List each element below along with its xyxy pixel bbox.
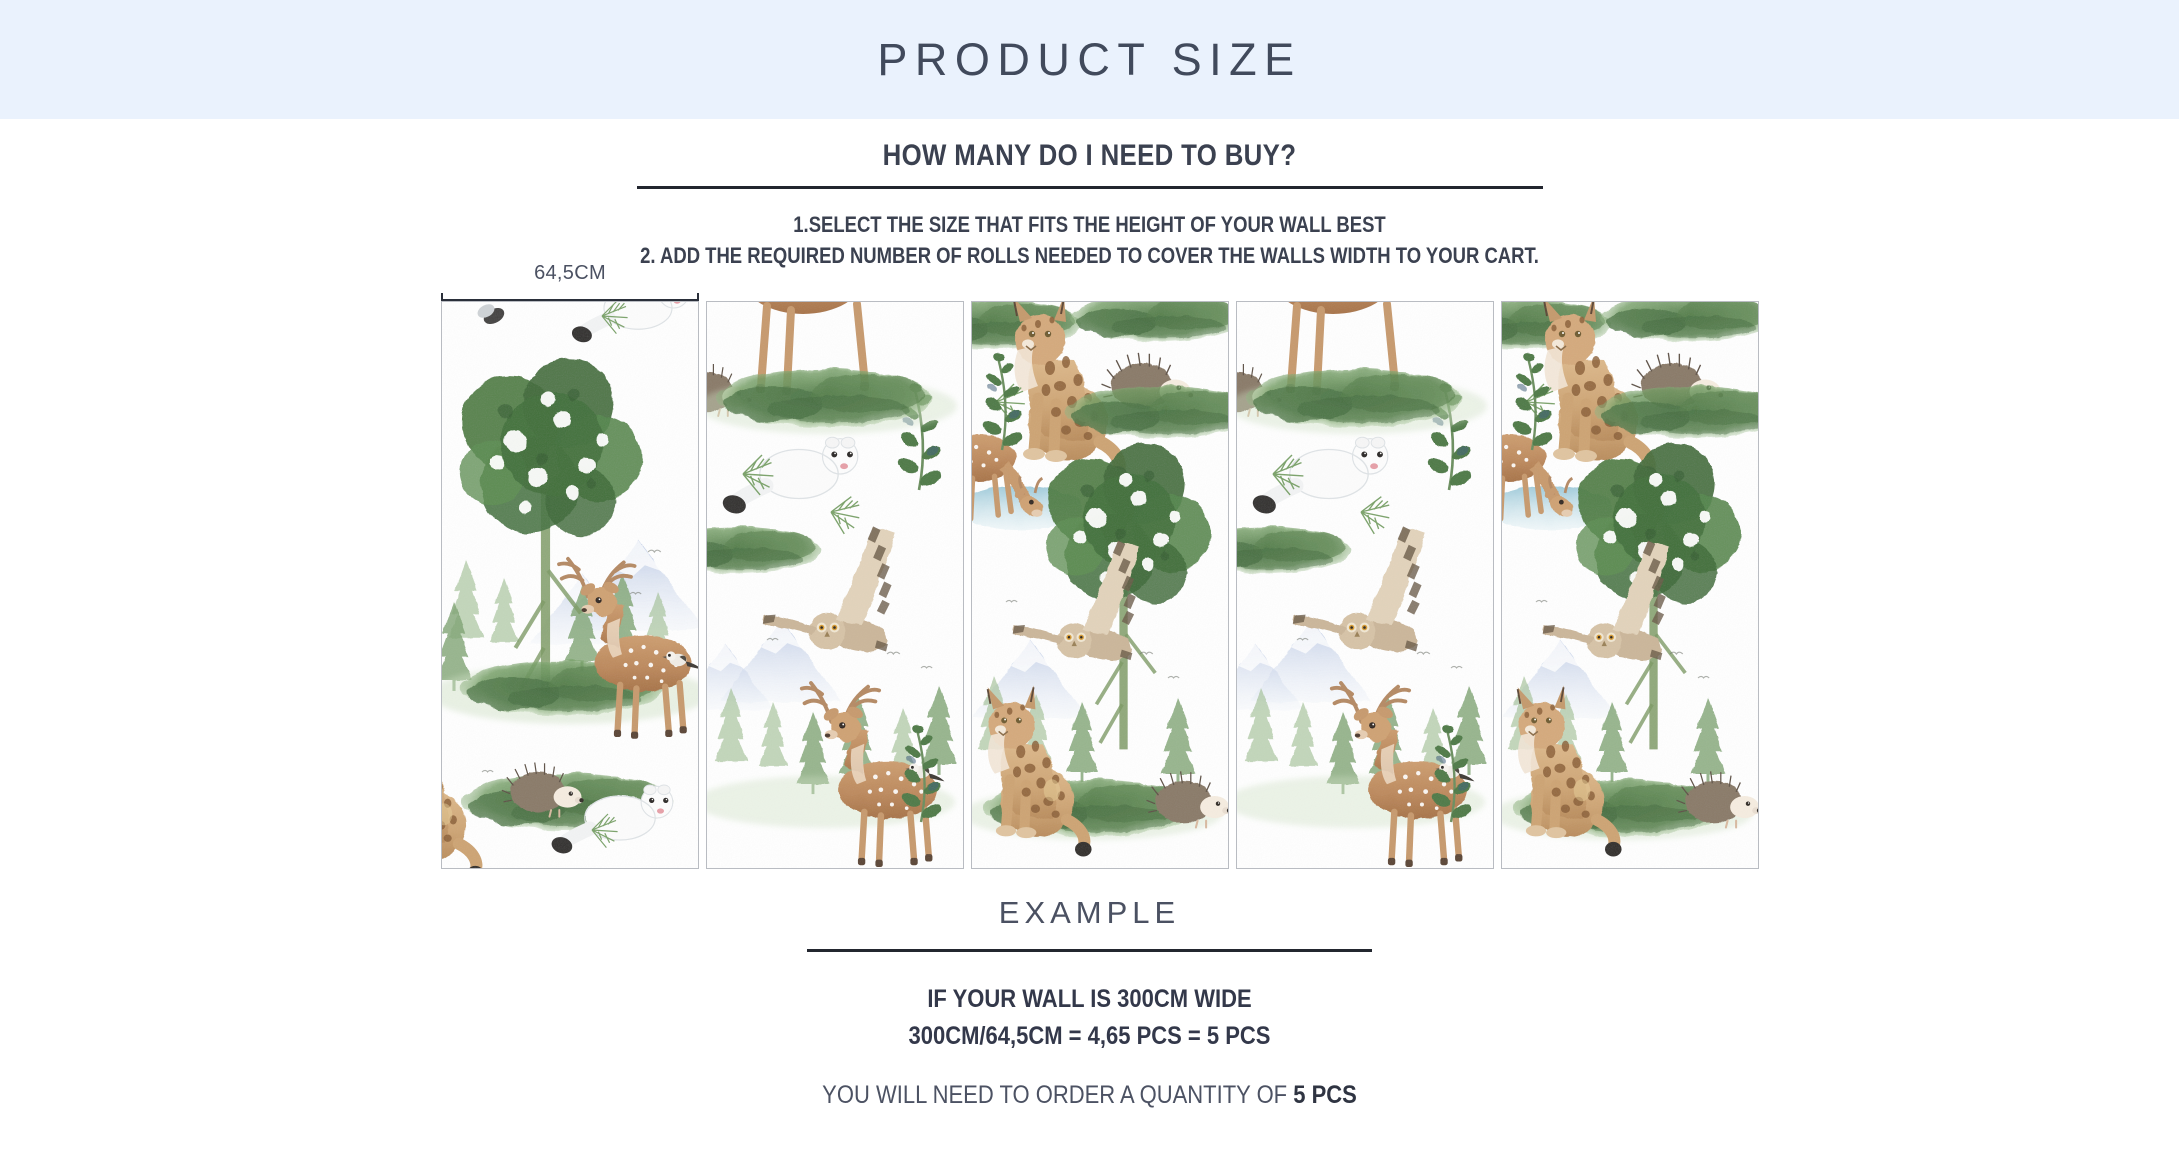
- example-conclusion-value: 5 PCS: [1293, 1081, 1357, 1109]
- wallpaper-artwork-5: [1502, 302, 1758, 868]
- dimension-label: 64,5CM: [441, 262, 699, 285]
- instructions-section: HOW MANY DO I NEED TO BUY? 1.SELECT THE …: [0, 119, 2179, 271]
- example-heading: EXAMPLE: [0, 895, 2179, 931]
- wallpaper-panel-1[interactable]: [441, 301, 699, 869]
- example-conclusion: YOU WILL NEED TO ORDER A QUANTITY OF 5 P…: [131, 1081, 2049, 1110]
- wallpaper-artwork-1: [442, 302, 698, 868]
- wallpaper-artwork-3: [972, 302, 1228, 868]
- instruction-step-1: 1.SELECT THE SIZE THAT FITS THE HEIGHT O…: [174, 209, 2004, 240]
- wallpaper-artwork-4: [1237, 302, 1493, 868]
- wallpaper-artwork-2: [707, 302, 963, 868]
- example-divider: [807, 949, 1372, 952]
- instructions-divider: [637, 186, 1543, 189]
- example-conclusion-prefix: YOU WILL NEED TO ORDER A QUANTITY OF: [822, 1081, 1293, 1109]
- instruction-list: 1.SELECT THE SIZE THAT FITS THE HEIGHT O…: [0, 209, 2179, 271]
- example-line-1: IF YOUR WALL IS 300CM WIDE: [131, 981, 2049, 1018]
- page-title: PRODUCT SIZE: [877, 34, 1301, 86]
- header-band: PRODUCT SIZE: [0, 0, 2179, 119]
- example-section: EXAMPLE IF YOUR WALL IS 300CM WIDE 300CM…: [0, 895, 2179, 1110]
- wallpaper-panel-5[interactable]: [1501, 301, 1759, 869]
- wallpaper-panel-2[interactable]: [706, 301, 964, 869]
- example-line-2: 300CM/64,5CM = 4,65 PCS = 5 PCS: [131, 1018, 2049, 1055]
- wallpaper-panel-3[interactable]: [971, 301, 1229, 869]
- wallpaper-panel-4[interactable]: [1236, 301, 1494, 869]
- instructions-heading: HOW MANY DO I NEED TO BUY?: [153, 139, 2027, 173]
- wallpaper-panel-strip: [441, 301, 1759, 869]
- example-calculation: IF YOUR WALL IS 300CM WIDE 300CM/64,5CM …: [0, 981, 2179, 1055]
